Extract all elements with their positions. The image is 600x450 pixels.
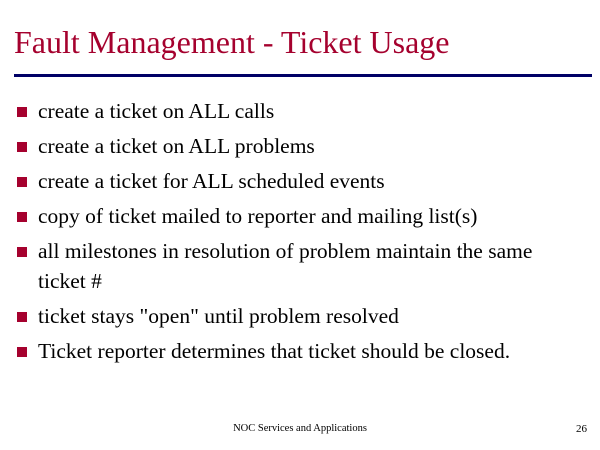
page-title: Fault Management - Ticket Usage <box>14 22 592 62</box>
list-item: create a ticket on ALL calls <box>14 96 570 126</box>
square-bullet-icon <box>17 312 27 322</box>
slide-footer: NOC Services and Applications 26 <box>0 422 600 442</box>
slide-canvas: Fault Management - Ticket Usage create a… <box>0 0 600 450</box>
square-bullet-icon <box>17 347 27 357</box>
bullet-list: create a ticket on ALL calls create a ti… <box>14 96 570 371</box>
list-item: all milestones in resolution of problem … <box>14 236 570 296</box>
title-block: Fault Management - Ticket Usage <box>14 22 592 62</box>
square-bullet-icon <box>17 177 27 187</box>
list-item: copy of ticket mailed to reporter and ma… <box>14 201 570 231</box>
title-underline-rule <box>14 74 592 77</box>
list-item: ticket stays "open" until problem resolv… <box>14 301 570 331</box>
page-number: 26 <box>576 422 587 436</box>
list-item: create a ticket for ALL scheduled events <box>14 166 570 196</box>
list-item-label: create a ticket for ALL scheduled events <box>38 166 570 196</box>
square-bullet-icon <box>17 247 27 257</box>
square-bullet-icon <box>17 212 27 222</box>
square-bullet-icon <box>17 142 27 152</box>
footer-title: NOC Services and Applications <box>0 422 600 436</box>
square-bullet-icon <box>17 107 27 117</box>
list-item-label: all milestones in resolution of problem … <box>38 236 570 296</box>
list-item: create a ticket on ALL problems <box>14 131 570 161</box>
list-item-label: copy of ticket mailed to reporter and ma… <box>38 201 570 231</box>
list-item-label: Ticket reporter determines that ticket s… <box>38 336 570 366</box>
list-item-label: create a ticket on ALL calls <box>38 96 570 126</box>
list-item: Ticket reporter determines that ticket s… <box>14 336 570 366</box>
list-item-label: ticket stays "open" until problem resolv… <box>38 301 570 331</box>
list-item-label: create a ticket on ALL problems <box>38 131 570 161</box>
